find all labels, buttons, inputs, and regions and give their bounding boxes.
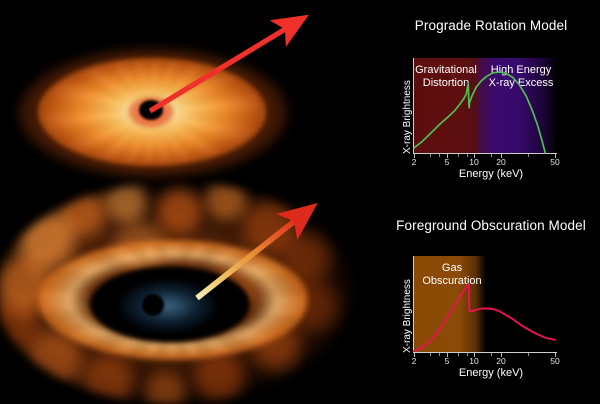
xtick-minor — [458, 154, 459, 157]
y-axis-label: X-ray Brightness — [402, 80, 413, 154]
x-axis-label: Energy (keV) — [382, 168, 600, 180]
figure-root: Prograde Rotation Model Gravitational Di… — [0, 0, 600, 400]
xtick-minor — [430, 154, 431, 157]
xticklabel-20: 20 — [491, 157, 511, 167]
xticklabel-5: 5 — [437, 356, 457, 366]
prograde-rotation-illustration — [0, 0, 380, 190]
xticklabel-50: 50 — [545, 157, 565, 167]
xray-beam-arrow-bottom — [0, 188, 380, 400]
xticklabel-10: 10 — [464, 157, 484, 167]
xticklabel-20: 20 — [491, 356, 511, 366]
xtick-minor — [458, 353, 459, 356]
xticklabel-50: 50 — [545, 356, 565, 366]
xticklabel-2: 2 — [404, 157, 424, 167]
xtick-minor — [430, 353, 431, 356]
y-axis-label: X-ray Brightness — [402, 279, 413, 353]
x-axis-label: Energy (keV) — [382, 367, 600, 379]
xticklabel-2: 2 — [404, 356, 424, 366]
xtick-minor — [528, 154, 529, 157]
xtick-minor — [528, 353, 529, 356]
xticklabel-10: 10 — [464, 356, 484, 366]
chart-prograde-rotation-model: Prograde Rotation Model Gravitational Di… — [382, 8, 600, 188]
chart-foreground-obscuration-model: Foreground Obscuration Model Gas Obscura… — [382, 210, 600, 396]
xticklabel-5: 5 — [437, 157, 457, 167]
xray-beam-arrow-top — [0, 0, 380, 190]
foreground-obscuration-illustration — [0, 188, 380, 400]
